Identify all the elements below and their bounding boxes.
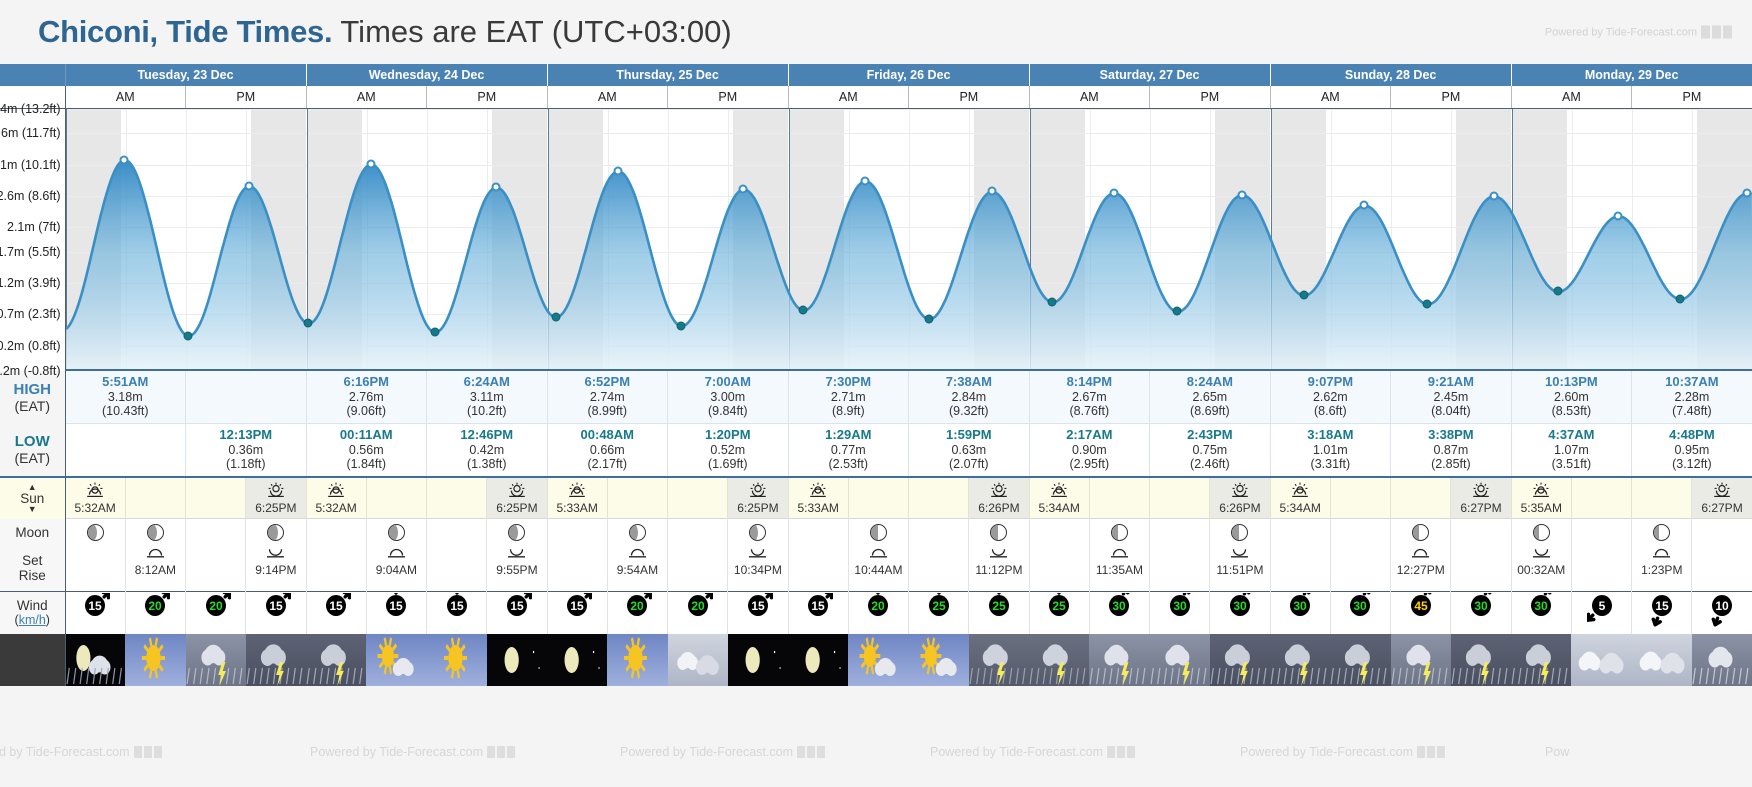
moon-phase-icon — [388, 524, 405, 541]
svg-text:15: 15 — [88, 599, 102, 613]
high-tide-point[interactable] — [1614, 211, 1623, 220]
moon-setrise-cell-27 — [1692, 546, 1752, 592]
wind-unit-link[interactable]: km/h — [19, 613, 46, 627]
moon-time: 11:35AM — [1090, 563, 1149, 577]
low-tide-time: 12:13PM — [186, 427, 306, 442]
moonset-icon — [869, 548, 888, 562]
wind-cell-26: 15 — [1632, 592, 1692, 634]
ampm-header-1-am: AM — [306, 86, 427, 108]
svg-text:25: 25 — [1053, 599, 1067, 613]
moon-phase-cell-23 — [1451, 519, 1511, 546]
moon-phase-cell-20 — [1270, 519, 1330, 546]
weather-cell-24 — [1511, 634, 1571, 686]
high-tide-meters: 2.60m — [1554, 390, 1589, 404]
sun-cell-12: 5:33AM — [788, 477, 848, 519]
moon-phase-cell-16 — [1029, 519, 1089, 546]
moon-phase-icon — [508, 524, 525, 541]
low-tide-row: LOW (EAT) 12:13PM0.36m(1.18ft)00:11AM0.5… — [0, 424, 1752, 477]
low-tide-time: 1:20PM — [668, 427, 788, 442]
low-tide-cell-3: 12:46PM0.42m(1.38ft) — [427, 424, 548, 477]
sun-cell-23: 6:27PM — [1451, 477, 1511, 519]
wind-cell-17: 30 — [1089, 592, 1149, 634]
sunrise-icon — [326, 488, 346, 502]
high-tide-meters: 2.62m — [1313, 390, 1348, 404]
wind-cell-11: 15 — [728, 592, 788, 634]
weather-cell-0 — [65, 634, 125, 686]
wind-cell-22: 45 — [1391, 592, 1451, 634]
low-tide-feet: (1.69ft) — [708, 457, 748, 471]
high-tide-feet: (10.2ft) — [467, 404, 507, 418]
low-tide-cell-1: 12:13PM0.36m(1.18ft) — [186, 424, 307, 477]
low-tide-point[interactable] — [184, 331, 193, 340]
high-tide-meters: 2.67m — [1072, 390, 1107, 404]
low-tide-time: 1:29AM — [789, 427, 909, 442]
footer-watermark-1: Powered by Tide-Forecast.com — [310, 745, 515, 759]
svg-text:30: 30 — [1294, 599, 1308, 613]
y-axis-tick-5: 1.7m (5.5ft) — [0, 245, 61, 259]
moonrise-icon — [1532, 548, 1551, 562]
high-tide-label: HIGH (EAT) — [0, 371, 65, 424]
wind-badge-icon: 15 — [502, 593, 532, 627]
moon-phase-cell-22 — [1391, 519, 1451, 546]
low-tide-time: 00:48AM — [548, 427, 668, 442]
weather-cell-17 — [1089, 634, 1149, 686]
sun-cell-5 — [366, 477, 426, 519]
high-tide-point[interactable] — [366, 160, 375, 169]
weather-cell-15 — [969, 634, 1029, 686]
high-tide-feet: (9.32ft) — [949, 404, 989, 418]
weather-cell-18 — [1150, 634, 1210, 686]
moon-phase-cell-21 — [1330, 519, 1390, 546]
high-tide-feet: (8.04ft) — [1431, 404, 1471, 418]
weather-cell-3 — [246, 634, 306, 686]
footer-watermark-text: Powered by Tide-Forecast.com — [930, 745, 1103, 759]
y-axis-tick-2: 3.1m (10.1ft) — [0, 158, 61, 172]
high-tide-cell-0: 5:51AM3.18m(10.43ft) — [65, 371, 186, 424]
weather-cell-22 — [1391, 634, 1451, 686]
sun-time: 5:34AM — [1271, 501, 1330, 515]
chart-row: 4m (13.2ft)3.6m (11.7ft)3.1m (10.1ft)2.6… — [0, 108, 1752, 371]
sun-cell-25 — [1571, 477, 1631, 519]
wind-badge-icon: 25 — [984, 593, 1014, 627]
low-tide-meters: 1.01m — [1313, 443, 1348, 457]
low-tide-meters: 0.95m — [1675, 443, 1710, 457]
tide-curve — [66, 109, 1752, 371]
sun-cell-9 — [607, 477, 667, 519]
svg-text:25: 25 — [992, 599, 1006, 613]
moon-phase-cell-10 — [668, 519, 728, 546]
footer-watermark-text: Pow — [1545, 745, 1569, 759]
high-tide-meters: 2.76m — [349, 390, 384, 404]
sun-time: 6:27PM — [1451, 501, 1510, 515]
low-tide-cell-4: 00:48AM0.66m(2.17ft) — [547, 424, 668, 477]
sunset-icon — [1471, 488, 1491, 502]
y-axis-tick-4: 2.1m (7ft) — [7, 220, 61, 234]
low-tide-point[interactable] — [924, 314, 933, 323]
sun-time: 6:26PM — [1210, 501, 1269, 515]
moon-setrise-cell-22: 12:27PM — [1391, 546, 1451, 592]
weather-cell-7 — [487, 634, 547, 686]
wind-badge-icon: 30 — [1345, 593, 1375, 627]
high-tide-cell-5: 7:00AM3.00m(9.84ft) — [668, 371, 789, 424]
low-tide-meters: 0.63m — [951, 443, 986, 457]
ampm-header-0-am: AM — [65, 86, 186, 108]
ampm-header-0-pm: PM — [186, 86, 307, 108]
watermark-bars-icon — [1417, 746, 1445, 758]
wind-cell-25: 5 — [1571, 592, 1631, 634]
high-tide-feet: (7.48ft) — [1672, 404, 1712, 418]
high-tide-point[interactable] — [861, 176, 870, 185]
wind-badge-icon: 30 — [1104, 593, 1134, 627]
sunset-icon — [989, 488, 1009, 502]
sun-time: 6:25PM — [728, 501, 787, 515]
wind-badge-icon: 30 — [1285, 593, 1315, 627]
y-axis-tick-8: 0.2m (0.8ft) — [0, 339, 61, 353]
page-title-location: Chiconi, Tide Times. — [38, 14, 332, 49]
footer-watermark-text: ed by Tide-Forecast.com — [0, 745, 130, 759]
ampm-header-5-am: AM — [1270, 86, 1391, 108]
sunset-icon — [266, 488, 286, 502]
sun-cell-15: 6:26PM — [969, 477, 1029, 519]
ampm-header-4-am: AM — [1029, 86, 1150, 108]
wind-cell-7: 15 — [487, 592, 547, 634]
high-tide-cell-6: 7:30PM2.71m(8.9ft) — [788, 371, 909, 424]
sun-time: 5:33AM — [789, 501, 848, 515]
weather-cell-8 — [547, 634, 607, 686]
high-tide-cell-10: 9:07PM2.62m(8.6ft) — [1270, 371, 1391, 424]
moon-time: 9:55PM — [487, 563, 546, 577]
moon-setrise-cell-10 — [668, 546, 728, 592]
ampm-header-3-am: AM — [788, 86, 909, 108]
high-tide-point[interactable] — [491, 183, 500, 192]
wind-badge-icon: 20 — [201, 593, 231, 627]
wind-unit: (km/h) — [0, 613, 65, 627]
svg-text:45: 45 — [1414, 599, 1428, 613]
moon-setrise-cell-23 — [1451, 546, 1511, 592]
high-tide-time: 10:37AM — [1632, 374, 1752, 389]
moon-setrise-cell-8 — [547, 546, 607, 592]
moon-phase-cell-4 — [306, 519, 366, 546]
weather-row — [0, 634, 1752, 686]
weather-cell-2 — [186, 634, 246, 686]
day-header-5: Sunday, 28 Dec — [1270, 64, 1511, 86]
sun-label: ▲ Sun ▼ — [0, 477, 65, 519]
footer-watermark-text: Powered by Tide-Forecast.com — [310, 745, 483, 759]
wind-badge-icon: 15 — [442, 593, 472, 627]
low-tide-point[interactable] — [551, 312, 560, 321]
moon-setrise-label: Set Rise — [0, 546, 65, 592]
moon-setrise-cell-15: 11:12PM — [969, 546, 1029, 592]
day-header-6: Monday, 29 Dec — [1511, 64, 1752, 86]
weather-cell-10 — [668, 634, 728, 686]
high-tide-cell-11: 9:21AM2.45m(8.04ft) — [1391, 371, 1512, 424]
low-tide-feet: (2.53ft) — [828, 457, 868, 471]
high-tide-cell-7: 7:38AM2.84m(9.32ft) — [909, 371, 1030, 424]
footer-watermark-5: Pow — [1545, 745, 1569, 759]
moon-setrise-cell-11: 10:34PM — [728, 546, 788, 592]
high-tide-meters: 2.71m — [831, 390, 866, 404]
weather-cell-26 — [1632, 634, 1692, 686]
ampm-header-2-pm: PM — [668, 86, 789, 108]
low-tide-feet: (1.38ft) — [467, 457, 507, 471]
svg-text:15: 15 — [390, 599, 404, 613]
wind-cell-15: 25 — [969, 592, 1029, 634]
moon-phase-cell-2 — [186, 519, 246, 546]
moon-setrise-cell-26: 1:23PM — [1632, 546, 1692, 592]
day-header-1: Wednesday, 24 Dec — [306, 64, 547, 86]
moon-time: 10:44AM — [849, 563, 908, 577]
sun-cell-17 — [1089, 477, 1149, 519]
low-tide-time: 12:46PM — [427, 427, 547, 442]
moon-phase-cell-26 — [1632, 519, 1692, 546]
sunrise-icon — [567, 488, 587, 502]
low-tide-point[interactable] — [1676, 294, 1685, 303]
low-tide-meters: 0.42m — [469, 443, 504, 457]
weather-cell-4 — [306, 634, 366, 686]
sunrise-icon — [1290, 488, 1310, 502]
ampm-header-6-pm: PM — [1632, 86, 1752, 108]
wind-cell-16: 25 — [1029, 592, 1089, 634]
high-tide-feet: (8.6ft) — [1314, 404, 1347, 418]
sun-cell-7: 6:25PM — [487, 477, 547, 519]
high-tide-cell-4: 6:52PM2.74m(8.99ft) — [547, 371, 668, 424]
moon-phase-icon — [1412, 524, 1429, 541]
high-tide-feet: (9.84ft) — [708, 404, 748, 418]
sun-time: 6:25PM — [246, 501, 305, 515]
watermark-bars-icon — [1701, 26, 1732, 39]
moon-phase-cell-25 — [1571, 519, 1631, 546]
sun-cell-3: 6:25PM — [246, 477, 306, 519]
sun-time: 5:34AM — [1030, 501, 1089, 515]
moon-setrise-cell-3: 9:14PM — [246, 546, 306, 592]
svg-text:30: 30 — [1474, 599, 1488, 613]
high-tide-point[interactable] — [987, 187, 996, 196]
high-tide-cell-1 — [186, 371, 307, 424]
high-tide-meters: 2.45m — [1433, 390, 1468, 404]
footer-watermark-4: Powered by Tide-Forecast.com — [1240, 745, 1445, 759]
sun-time: 5:33AM — [548, 501, 607, 515]
moon-phase-cell-0 — [65, 519, 125, 546]
moon-phase-icon — [1231, 524, 1248, 541]
moon-setrise-cell-19: 11:51PM — [1210, 546, 1270, 592]
sun-time: 6:27PM — [1692, 501, 1751, 515]
sun-cell-26 — [1632, 477, 1692, 519]
y-axis-tick-7: 0.7m (2.3ft) — [0, 307, 61, 321]
tide-chart — [65, 108, 1752, 371]
low-tide-time: 3:18AM — [1271, 427, 1391, 442]
high-tide-point[interactable] — [739, 184, 748, 193]
low-tide-point[interactable] — [1173, 307, 1182, 316]
sun-row: ▲ Sun ▼ 5:32AM6:25PM5:32AM6:25PM5:33AM6:… — [0, 477, 1752, 519]
wind-badge-icon: 10 — [1707, 593, 1737, 627]
low-tide-meters: 0.77m — [831, 443, 866, 457]
moon-time: 9:54AM — [608, 563, 667, 577]
low-tide-point[interactable] — [1048, 297, 1057, 306]
ampm-header-row: AMPMAMPMAMPMAMPMAMPMAMPMAMPM — [0, 86, 1752, 108]
day-header-4: Saturday, 27 Dec — [1029, 64, 1270, 86]
moon-label: Moon — [0, 519, 65, 546]
wind-badge-icon: 15 — [1647, 593, 1677, 627]
moon-setrise-cell-20 — [1270, 546, 1330, 592]
high-tide-point[interactable] — [244, 181, 253, 190]
sunrise-icon — [1531, 488, 1551, 502]
tide-curve-plot — [66, 109, 1752, 371]
high-tide-time: 6:16PM — [307, 374, 427, 389]
high-tide-point[interactable] — [1743, 188, 1752, 197]
moon-phase-cell-7 — [487, 519, 547, 546]
moon-phase-cell-5 — [366, 519, 426, 546]
wind-cell-18: 30 — [1150, 592, 1210, 634]
low-tide-point[interactable] — [1299, 291, 1308, 300]
wind-badge-icon: 30 — [1165, 593, 1195, 627]
moon-phase-cell-24 — [1511, 519, 1571, 546]
moon-phase-cell-1 — [125, 519, 185, 546]
low-tide-time: 2:43PM — [1150, 427, 1270, 442]
high-tide-time: 10:13PM — [1512, 374, 1632, 389]
wind-cell-24: 30 — [1511, 592, 1571, 634]
low-tide-point[interactable] — [304, 319, 313, 328]
moon-phase-cell-8 — [547, 519, 607, 546]
weather-cell-1 — [125, 634, 185, 686]
sunrise-icon — [808, 488, 828, 502]
svg-text:15: 15 — [510, 599, 524, 613]
high-tide-point[interactable] — [613, 166, 622, 175]
high-tide-meters: 3.00m — [710, 390, 745, 404]
svg-text:20: 20 — [209, 599, 223, 613]
header-watermark-text: Powered by Tide-Forecast.com — [1545, 26, 1697, 38]
sun-cell-1 — [125, 477, 185, 519]
high-tide-point[interactable] — [1109, 188, 1118, 197]
moon-phase-cell-11 — [728, 519, 788, 546]
wind-cell-3: 15 — [246, 592, 306, 634]
moonrise-icon — [1230, 548, 1249, 562]
moon-time: 8:12AM — [126, 563, 185, 577]
moon-setrise-cell-4 — [306, 546, 366, 592]
sun-time: 6:25PM — [487, 501, 546, 515]
moon-setrise-cell-21 — [1330, 546, 1390, 592]
wind-cell-10: 20 — [668, 592, 728, 634]
high-tide-feet: (8.9ft) — [832, 404, 865, 418]
low-tide-feet: (2.17ft) — [587, 457, 627, 471]
high-tide-row: HIGH (EAT) 5:51AM3.18m(10.43ft)6:16PM2.7… — [0, 371, 1752, 424]
low-tide-cell-13: 4:48PM0.95m(3.12ft) — [1632, 424, 1752, 477]
svg-text:15: 15 — [329, 599, 343, 613]
moon-setrise-cell-7: 9:55PM — [487, 546, 547, 592]
high-tide-time: 5:51AM — [66, 374, 186, 389]
ampm-header-1-pm: PM — [427, 86, 548, 108]
sun-cell-16: 5:34AM — [1029, 477, 1089, 519]
weather-cell-14 — [909, 634, 969, 686]
high-tide-meters: 3.18m — [108, 390, 143, 404]
y-axis-tick-6: 1.2m (3.9ft) — [0, 276, 61, 290]
wind-badge-icon: 15 — [261, 593, 291, 627]
svg-text:30: 30 — [1173, 599, 1187, 613]
low-tide-point[interactable] — [799, 305, 808, 314]
y-axis-tick-3: 2.6m (8.6ft) — [0, 189, 61, 203]
ampm-header-4-pm: PM — [1150, 86, 1271, 108]
tide-curve-fill — [66, 160, 1752, 371]
sun-cell-0: 5:32AM — [65, 477, 125, 519]
footer-watermark-2: Powered by Tide-Forecast.com — [620, 745, 825, 759]
sun-time: 6:26PM — [969, 501, 1028, 515]
sun-cell-8: 5:33AM — [547, 477, 607, 519]
low-tide-point[interactable] — [430, 327, 439, 336]
weather-cell-12 — [788, 634, 848, 686]
moon-phase-cell-12 — [788, 519, 848, 546]
low-tide-cell-9: 2:43PM0.75m(2.46ft) — [1150, 424, 1271, 477]
moon-setrise-cell-17: 11:35AM — [1089, 546, 1149, 592]
moon-time: 9:04AM — [367, 563, 426, 577]
wind-cell-12: 15 — [788, 592, 848, 634]
page-title-timezone: Times are EAT (UTC+03:00) — [340, 14, 731, 49]
low-tide-cell-12: 4:37AM1.07m(3.51ft) — [1511, 424, 1632, 477]
ampm-header-6-am: AM — [1511, 86, 1632, 108]
wind-badge-icon: 25 — [924, 593, 954, 627]
day-header-3: Friday, 26 Dec — [788, 64, 1029, 86]
wind-badge-icon: 20 — [140, 593, 170, 627]
high-tide-point[interactable] — [1237, 190, 1246, 199]
low-tide-label-text: LOW — [0, 433, 65, 450]
high-tide-point[interactable] — [1489, 191, 1498, 200]
sun-cell-4: 5:32AM — [306, 477, 366, 519]
high-tide-time: 9:07PM — [1271, 374, 1391, 389]
low-tide-feet: (2.07ft) — [949, 457, 989, 471]
moonrise-icon — [507, 548, 526, 562]
high-tide-time: 6:52PM — [548, 374, 668, 389]
wind-cell-4: 15 — [306, 592, 366, 634]
low-tide-cell-8: 2:17AM0.90m(2.95ft) — [1029, 424, 1150, 477]
page-title: Chiconi, Tide Times. Times are EAT (UTC+… — [38, 14, 732, 50]
wind-badge-icon: 30 — [1225, 593, 1255, 627]
low-tide-meters: 0.66m — [590, 443, 625, 457]
watermark-bars-icon — [1107, 746, 1135, 758]
moon-phase-cell-13 — [848, 519, 908, 546]
low-tide-point[interactable] — [677, 321, 686, 330]
low-tide-feet: (3.12ft) — [1672, 457, 1712, 471]
high-tide-label-text: HIGH — [0, 381, 65, 398]
weather-cell-19 — [1210, 634, 1270, 686]
sunset-icon — [1230, 488, 1250, 502]
wind-cell-23: 30 — [1451, 592, 1511, 634]
day-header-0: Tuesday, 23 Dec — [65, 64, 306, 86]
weather-cell-25 — [1571, 634, 1631, 686]
moon-setrise-cell-1: 8:12AM — [125, 546, 185, 592]
moon-setrise-cell-13: 10:44AM — [848, 546, 908, 592]
low-tide-cell-2: 00:11AM0.56m(1.84ft) — [306, 424, 427, 477]
moon-setrise-cell-18 — [1150, 546, 1210, 592]
high-tide-feet: (8.69ft) — [1190, 404, 1230, 418]
low-tide-point[interactable] — [1553, 287, 1562, 296]
svg-text:20: 20 — [149, 599, 163, 613]
high-tide-time: 7:30PM — [789, 374, 909, 389]
weather-cell-23 — [1451, 634, 1511, 686]
wind-badge-icon: 15 — [321, 593, 351, 627]
moon-time: 10:34PM — [728, 563, 787, 577]
low-tide-point[interactable] — [1423, 299, 1432, 308]
high-tide-point[interactable] — [1360, 201, 1369, 210]
sun-time: 5:32AM — [66, 501, 125, 515]
moon-phase-icon — [267, 524, 284, 541]
sun-cell-10 — [668, 477, 728, 519]
tide-table: Tuesday, 23 DecWednesday, 24 DecThursday… — [0, 64, 1752, 686]
wind-cell-21: 30 — [1330, 592, 1390, 634]
svg-text:15: 15 — [751, 599, 765, 613]
weather-cell-27 — [1692, 634, 1752, 686]
low-tide-time: 2:17AM — [1030, 427, 1150, 442]
low-tide-time: 3:38PM — [1391, 427, 1511, 442]
high-tide-point[interactable] — [120, 155, 129, 164]
wind-cell-0: 15 — [65, 592, 125, 634]
